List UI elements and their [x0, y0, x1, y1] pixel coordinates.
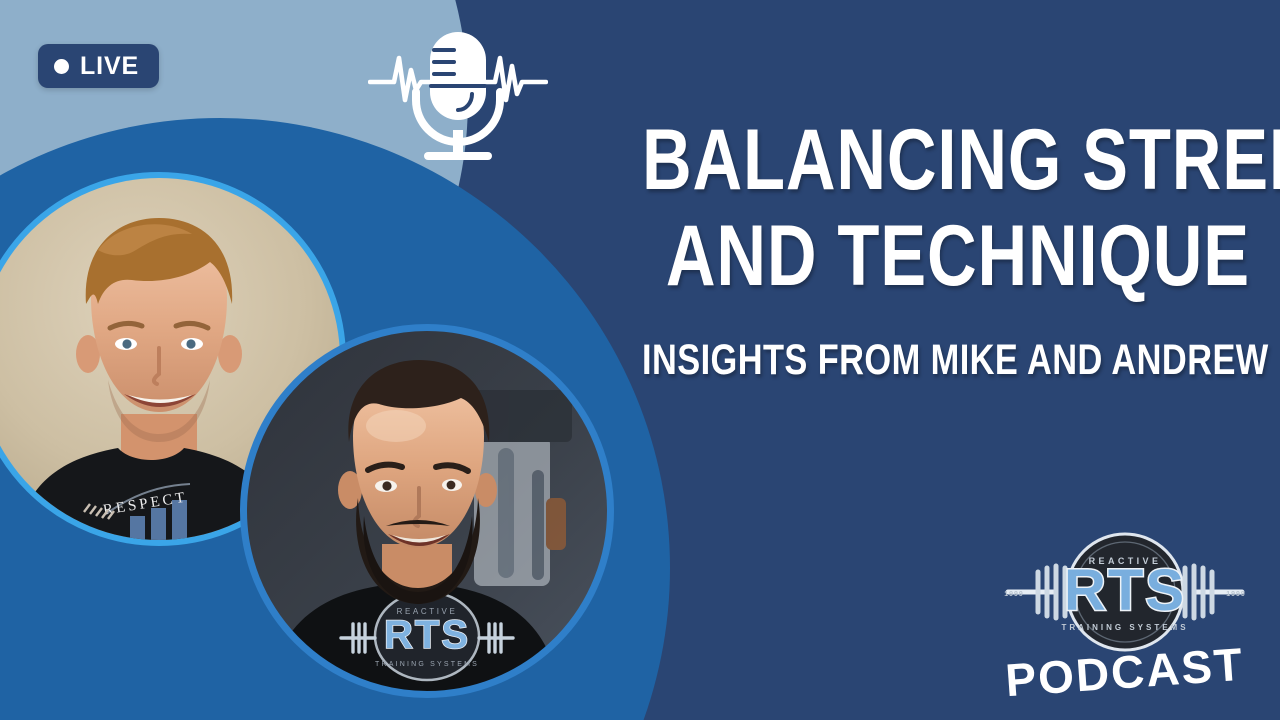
guest-right-photo: REACTIVE TRAINING SYSTEMS RTS — [246, 330, 608, 692]
logo-right-year: 1999 — [1226, 591, 1246, 598]
logo-bottom-arc-text: TRAINING SYSTEMS — [1061, 623, 1188, 632]
title-line-1: BALANCING STRENGTH — [642, 118, 1250, 202]
svg-text:TRAINING SYSTEMS: TRAINING SYSTEMS — [375, 661, 479, 668]
subtitle: INSIGHTS FROM MIKE AND ANDREW — [642, 339, 1250, 382]
logo-podcast-wordmark: PODCAST — [1004, 638, 1246, 707]
live-dot-icon — [54, 59, 69, 74]
headline-block: BALANCING STRENGTH AND TECHNIQUE INSIGHT… — [490, 118, 1250, 382]
svg-text:RTS: RTS — [384, 613, 470, 657]
live-badge[interactable]: LIVE — [38, 44, 159, 88]
logo-left-year: 1999 — [1004, 591, 1024, 598]
rts-podcast-logo[interactable]: REACTIVE TRAINING SYSTEMS — [994, 530, 1256, 708]
live-badge-label: LIVE — [80, 54, 139, 79]
logo-rts-mark: RTS — [1064, 558, 1186, 623]
title-line-2: AND TECHNIQUE — [642, 214, 1250, 298]
thumbnail-canvas: LIVE — [0, 0, 1280, 720]
